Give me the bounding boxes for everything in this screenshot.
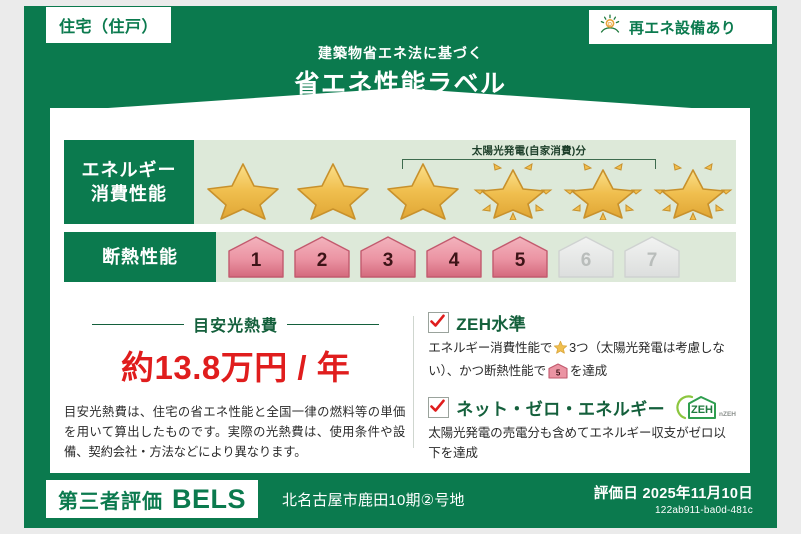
property-address: 北名古屋市鹿田10期②号地 <box>282 489 465 510</box>
rule-left <box>92 324 184 325</box>
check-body-net-zero-energy: 太陽光発電の売電分も含めてエネルギー収支がゼロ以下を達成 <box>428 424 736 463</box>
check-head: ネット・ゼロ・エネルギー ZEH nZEH <box>428 394 736 420</box>
insulation-level-5-value: 5 <box>515 250 526 279</box>
check-body-zeh-standard: エネルギー消費性能で3つ（太陽光発電は考慮しない）、かつ断熱性能で5を達成 <box>428 339 736 385</box>
check-title-net-zero-energy: ネット・ゼロ・エネルギー <box>456 395 665 420</box>
lower-section: 目安光熱費 約13.8万円 / 年 目安光熱費は、住宅の省エネ性能と全国一律の燃… <box>64 310 736 460</box>
row-energy-value: 太陽光発電(自家消費)分 <box>194 140 736 224</box>
checkmark-icon[interactable] <box>428 397 449 418</box>
insulation-level-4-value: 4 <box>449 250 460 279</box>
zeh-logo-icon: ZEH nZEH <box>676 394 736 420</box>
check-body-part3: を達成 <box>570 364 607 378</box>
label-panel: エネルギー 消費性能 太陽光発電(自家消費)分 <box>50 88 750 473</box>
checkmark-icon[interactable] <box>428 312 449 333</box>
insulation-level-7: 7 <box>622 235 682 279</box>
insulation-level-2: 2 <box>292 235 352 279</box>
rule-right <box>287 324 379 325</box>
row-insulation-label-text: 断熱性能 <box>102 245 178 269</box>
title-main: 省エネ性能ラベル <box>24 64 777 100</box>
evaluation-date: 評価日 2025年11月10日 <box>594 482 753 503</box>
check-body-part1: エネルギー消費性能で <box>428 341 552 355</box>
check-head: ZEH水準 <box>428 310 736 335</box>
evaluation-code: 122ab911-ba0d-481c <box>594 505 753 516</box>
energy-star-rating <box>194 140 736 224</box>
footer-bar: 第三者評価 BELS 北名古屋市鹿田10期②号地 評価日 2025年11月10日… <box>24 472 777 528</box>
achievement-checks: ZEH水準 エネルギー消費性能で3つ（太陽光発電は考慮しない）、かつ断熱性能で5… <box>424 310 736 460</box>
utility-cost-heading-label: 目安光熱費 <box>193 312 278 336</box>
insulation-level-1-value: 1 <box>251 250 262 279</box>
svg-text:ZEH: ZEH <box>691 404 713 416</box>
star-filled-solar <box>650 160 736 220</box>
utility-cost-heading: 目安光熱費 <box>64 312 407 336</box>
check-item-net-zero-energy: ネット・ゼロ・エネルギー ZEH nZEH <box>428 394 736 463</box>
tab-housing-label: 住宅（住戸） <box>59 13 158 37</box>
insulation-level-7-value: 7 <box>647 250 658 279</box>
vertical-divider <box>413 316 414 448</box>
bels-certification-mark: 第三者評価 BELS <box>46 480 258 518</box>
zeh-logo-subtext: nZEH <box>719 411 736 420</box>
badge-renewable-label: 再エネ設備あり <box>629 17 736 38</box>
performance-rows: エネルギー 消費性能 太陽光発電(自家消費)分 <box>64 140 736 290</box>
star-filled <box>290 160 376 220</box>
tab-housing-type[interactable]: 住宅（住戸） <box>46 7 171 43</box>
row-insulation: 断熱性能 <box>64 232 736 282</box>
star-filled-solar <box>470 160 556 220</box>
insulation-level-5: 5 <box>490 235 550 279</box>
insulation-level-4: 4 <box>424 235 484 279</box>
title-subtitle: 建築物省エネ法に基づく <box>24 46 777 61</box>
utility-cost-block: 目安光熱費 約13.8万円 / 年 目安光熱費は、住宅の省エネ性能と全国一律の燃… <box>64 310 407 460</box>
page-title: 建築物省エネ法に基づく 省エネ性能ラベル <box>24 46 777 100</box>
star-filled-solar <box>560 160 646 220</box>
row-insulation-value: 1 2 3 <box>216 232 736 282</box>
label-card: 住宅（住戸） D 再エネ設備あり <box>24 6 777 528</box>
row-energy-label-line2: 消費性能 <box>91 182 167 206</box>
star-filled <box>380 160 466 220</box>
check-item-zeh-standard: ZEH水準 エネルギー消費性能で3つ（太陽光発電は考慮しない）、かつ断熱性能で5… <box>428 310 736 385</box>
utility-cost-note: 目安光熱費は、住宅の省エネ性能と全国一律の燃料等の単価を用いて算出したものです。… <box>64 403 407 463</box>
row-energy-consumption: エネルギー 消費性能 太陽光発電(自家消費)分 <box>64 140 736 224</box>
star-filled <box>200 160 286 220</box>
insulation-badge-icon: 5 <box>548 368 568 382</box>
check-title-zeh-standard: ZEH水準 <box>456 310 526 335</box>
insulation-level-3: 3 <box>358 235 418 279</box>
insulation-level-scale: 1 2 3 <box>216 235 682 279</box>
bels-en-label: BELS <box>172 484 246 515</box>
insulation-level-1: 1 <box>226 235 286 279</box>
insulation-level-2-value: 2 <box>317 250 328 279</box>
row-energy-label: エネルギー 消費性能 <box>64 140 194 224</box>
insulation-level-3-value: 3 <box>383 250 394 279</box>
bels-energy-label: 住宅（住戸） D 再エネ設備あり <box>0 0 801 534</box>
sun-icon: D <box>598 13 622 42</box>
bels-jp-label: 第三者評価 <box>58 485 163 514</box>
row-insulation-label: 断熱性能 <box>64 232 216 282</box>
row-energy-label-line1: エネルギー <box>82 158 177 182</box>
badge-renewable-energy: D 再エネ設備あり <box>589 10 772 44</box>
svg-text:D: D <box>608 22 612 28</box>
star-icon <box>553 344 568 358</box>
utility-cost-amount: 約13.8万円 / 年 <box>64 341 407 389</box>
insulation-level-6-value: 6 <box>581 250 592 279</box>
insulation-level-6: 6 <box>556 235 616 279</box>
evaluation-info: 評価日 2025年11月10日 122ab911-ba0d-481c <box>594 482 753 516</box>
panel-body: エネルギー 消費性能 太陽光発電(自家消費)分 <box>50 108 750 473</box>
